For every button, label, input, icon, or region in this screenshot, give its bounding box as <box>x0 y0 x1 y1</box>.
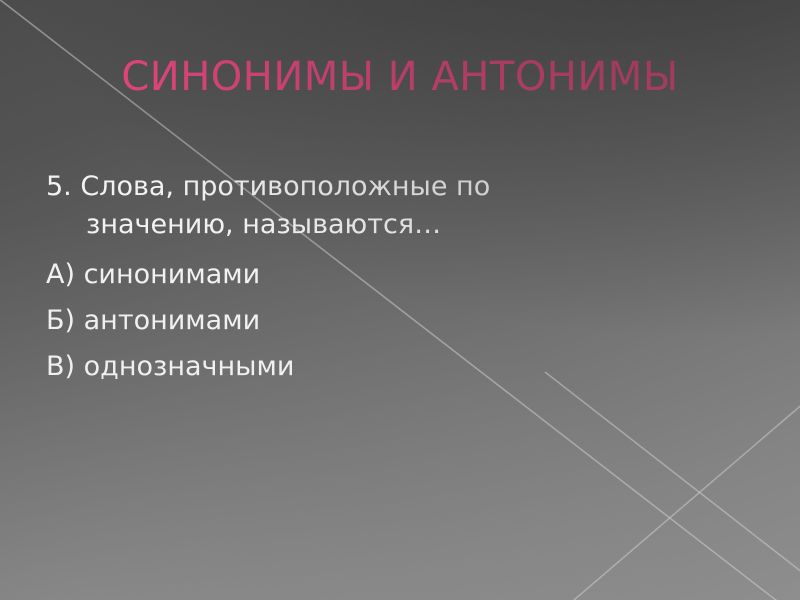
slide-body: 5. Слова, противоположные по значению, н… <box>46 168 646 390</box>
presentation-slide: СИНОНИМЫ И АНТОНИМЫ 5. Слова, противопол… <box>0 0 800 600</box>
slide-content: СИНОНИМЫ И АНТОНИМЫ 5. Слова, противопол… <box>0 0 800 600</box>
slide-title: СИНОНИМЫ И АНТОНИМЫ <box>0 54 800 100</box>
question-text: 5. Слова, противоположные по значению, н… <box>46 168 606 244</box>
answer-option-a[interactable]: А) синонимами <box>46 252 646 298</box>
answer-option-v[interactable]: В) однозначными <box>46 344 646 390</box>
answer-option-b[interactable]: Б) антонимами <box>46 298 646 344</box>
